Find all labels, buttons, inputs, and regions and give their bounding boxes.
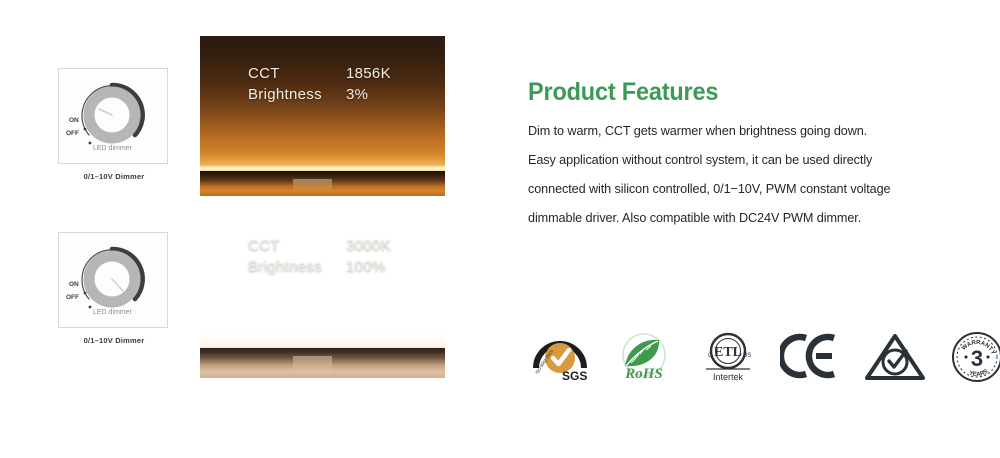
etl-main-text: ETL [714,345,742,360]
warranty-main-text: 3 [971,346,983,371]
dimmer-card-low: ON OFF LED dimmer 0/1–10V Dimmer [58,68,170,181]
panel-readout: CCT 3000K Brightness 100% [248,235,391,277]
led-strip-glow [200,164,445,171]
led-strip [200,341,445,367]
dimmer-knob-label: LED dimmer [93,309,132,316]
cct-value: 3000K [346,235,391,256]
rohs-main-text: RoHS [624,366,663,382]
cct-label: CCT [248,63,346,84]
readout-row-cct: CCT 1856K [248,63,391,84]
rohs-badge: RoHS [612,328,676,386]
product-features-section: Product Features Dim to warm, CCT gets w… [528,78,948,239]
dimmer-card-frame: ON OFF LED dimmer [58,68,168,164]
readout-row-brightness: Brightness 100% [248,256,391,277]
brightness-value: 3% [346,84,368,105]
led-strip-body [200,171,445,179]
brightness-label: Brightness [248,84,346,105]
off-dot [89,306,92,309]
readout-row-brightness: Brightness 3% [248,84,391,105]
features-body: Dim to warm, CCT gets warmer when bright… [528,123,948,225]
cct-value: 1856K [346,63,391,84]
brightness-label: Brightness [248,256,346,277]
rcm-badge [862,328,928,386]
led-strip [200,164,445,190]
feature-line: Dim to warm, CCT gets warmer when bright… [528,123,931,138]
dimmer-on-label: ON [69,281,79,288]
page-title: Product Features [528,78,923,107]
panel-readout: CCT 1856K Brightness 3% [248,63,391,105]
cct-panel-warm: CCT 1856K Brightness 3% [200,36,445,196]
dimmer-off-label: OFF [66,294,79,301]
off-dot [89,142,92,145]
dimmer-caption: 0/1–10V Dimmer [58,172,170,181]
on-dot [84,128,87,131]
warranty-badge: WARRANTY 3 YEARS [948,328,1000,386]
dimmer-card-high: ON OFF LED dimmer 0/1–10V Dimmer [58,232,170,345]
on-dot [84,292,87,295]
feature-line: connected with silicon controlled, 0/1−1… [528,181,931,196]
led-strip-glow [200,341,445,348]
readout-row-cct: CCT 3000K [248,235,391,256]
feature-line: Easy application without control system,… [528,152,931,167]
dimmer-knob-label: LED dimmer [93,145,132,152]
cct-panel-neutral: CCT 3000K Brightness 100% [200,208,445,378]
sgs-badge: SYSTEM CERTIFICATION ISO 9001:2015 SGS [528,328,592,386]
certification-badge-row: SYSTEM CERTIFICATION ISO 9001:2015 SGS R… [528,328,1000,386]
etl-intertek-badge: ETL C US Intertek [696,328,760,386]
dimmer-card-frame: ON OFF LED dimmer [58,232,168,328]
dimmer-on-label: ON [69,117,79,124]
sgs-main-text: SGS [562,369,587,383]
cct-panel-group: CCT 1856K Brightness 3% CCT 3000K Bright… [200,36,445,378]
etl-right-text: US [743,353,751,359]
dimmer-caption: 0/1–10V Dimmer [58,336,170,345]
brightness-value: 100% [346,256,386,277]
feature-line: dimmable driver. Also compatible with DC… [528,210,931,225]
etl-sub-text: Intertek [713,372,744,382]
dimmer-column: ON OFF LED dimmer 0/1–10V Dimmer ON OFF … [0,0,200,458]
etl-left-text: C [708,353,713,359]
led-strip-body [200,348,445,356]
cct-label: CCT [248,235,346,256]
dimmer-off-label: OFF [66,130,79,137]
ce-badge [780,328,842,386]
